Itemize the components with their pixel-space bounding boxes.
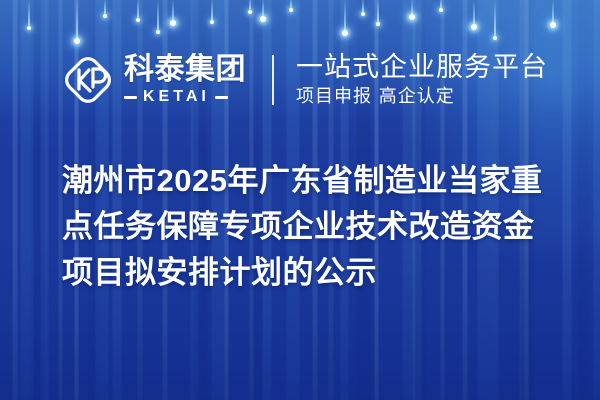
falling-light-streak-icon <box>362 0 364 16</box>
falling-light-streak-icon <box>211 0 213 24</box>
title-line: 项目拟安排计划的公示 <box>62 250 562 296</box>
falling-light-streak-icon <box>137 0 139 22</box>
falling-light-streak-icon <box>262 0 264 22</box>
title-line: 潮州市2025年广东省制造业当家重 <box>62 158 562 204</box>
falling-light-streak-icon <box>473 0 475 30</box>
falling-light-streak-icon <box>411 0 413 20</box>
falling-light-streak-icon <box>172 0 174 26</box>
title-line: 点任务保障专项企业技术改造资金 <box>62 204 562 250</box>
tagline-block: 一站式企业服务平台 项目申报 高企认定 <box>296 53 548 107</box>
brand-name-en-row: KETAI <box>124 89 246 105</box>
ketai-diamond-kp-logo-icon <box>62 54 114 106</box>
banner-header: 科泰集团 KETAI 一站式企业服务平台 项目申报 高企认定 <box>0 44 600 116</box>
tagline-main: 一站式企业服务平台 <box>296 53 548 82</box>
falling-light-streak-icon <box>344 0 346 36</box>
falling-light-streak-icon <box>552 0 554 28</box>
vertical-divider-icon <box>272 55 274 105</box>
page-title: 潮州市2025年广东省制造业当家重 点任务保障专项企业技术改造资金 项目拟安排计… <box>62 158 562 296</box>
falling-light-streak-icon <box>28 0 30 30</box>
ketai-logo[interactable]: 科泰集团 KETAI <box>62 54 246 106</box>
promo-banner: 科泰集团 KETAI 一站式企业服务平台 项目申报 高企认定 潮州市2025年广… <box>0 0 600 400</box>
falling-light-streak-icon <box>440 0 442 12</box>
falling-light-streak-icon <box>104 0 106 18</box>
dash-left-icon <box>124 96 137 99</box>
dash-right-icon <box>215 96 228 99</box>
falling-light-streak-icon <box>157 0 159 34</box>
falling-light-streak-icon <box>494 0 496 40</box>
falling-light-streak-icon <box>377 0 379 26</box>
falling-light-streak-icon <box>249 0 251 14</box>
logo-wordmark: 科泰集团 KETAI <box>124 55 246 105</box>
tagline-sub: 项目申报 高企认定 <box>296 87 548 107</box>
falling-light-streak-icon <box>290 0 292 12</box>
falling-light-streak-icon <box>76 0 78 44</box>
brand-name-cn: 科泰集团 <box>124 55 246 85</box>
brand-name-en: KETAI <box>143 89 210 105</box>
